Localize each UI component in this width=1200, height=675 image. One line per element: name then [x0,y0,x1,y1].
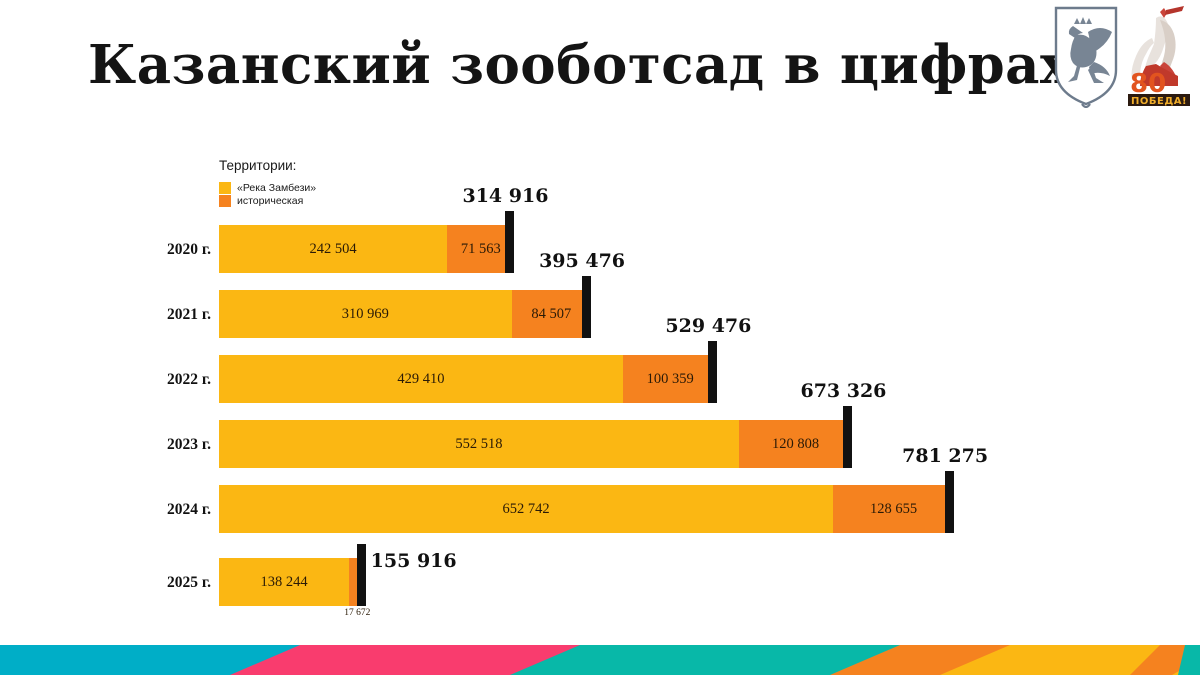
chart-row: 2023 г.552 518120 808673 326 [0,420,1200,468]
bar-segment-value: 71 563 [461,241,501,258]
bar-segment-value: 310 969 [342,306,389,323]
bar-segment-value: 17 672 [344,608,370,618]
legend-swatch-series-b [219,195,231,207]
chart-legend: Территории: «Река Замбези» историческая [219,158,449,208]
legend-label-series-b: историческая [237,195,303,207]
bar-segment-reka-zambezi[interactable]: 310 969 [219,290,512,338]
bar-segment-value: 100 359 [647,371,694,388]
total-value-label: 781 275 [902,445,988,467]
page-title: Казанский зооботсад в цифрах [88,34,1072,96]
chart-row: 2025 г.138 24417 672155 916 [0,558,1200,606]
row-category-label: 2025 г. [0,574,211,592]
stacked-bar[interactable]: 429 410100 359 [219,355,717,403]
bar-segment-value: 120 808 [772,436,819,453]
total-value-label: 529 476 [665,315,751,337]
logo-block: 80 ПОБЕДА! [1052,4,1192,108]
total-value-label: 155 916 [371,550,457,572]
total-value-label: 314 916 [462,185,548,207]
bar-segment-value: 128 655 [870,501,917,518]
row-category-label: 2022 г. [0,371,211,389]
bar-segment-istoricheskaya[interactable]: 71 563 [447,225,514,273]
bar-segment-reka-zambezi[interactable]: 652 742 [219,485,833,533]
bar-segment-reka-zambezi[interactable]: 552 518 [219,420,739,468]
total-value-label: 673 326 [800,380,886,402]
chart-row: 2024 г.652 742128 655781 275 [0,485,1200,533]
row-category-label: 2024 г. [0,501,211,519]
row-category-label: 2020 г. [0,241,211,259]
kazan-coat-of-arms-icon [1052,4,1120,108]
total-value-label: 395 476 [539,250,625,272]
total-marker [843,406,852,468]
legend-title: Территории: [219,158,449,173]
bar-segment-istoricheskaya[interactable]: 128 655 [833,485,954,533]
legend-item-istoricheskaya: историческая [219,195,449,207]
row-category-label: 2023 г. [0,436,211,454]
stacked-bar[interactable]: 552 518120 808 [219,420,852,468]
stacked-bar[interactable]: 310 96984 507 [219,290,591,338]
legend-swatch-series-a [219,182,231,194]
bar-segment-value: 652 742 [502,501,549,518]
stacked-bar[interactable]: 652 742128 655 [219,485,954,533]
footer-ribbon [0,641,1200,675]
victory-80-emblem-icon: 80 ПОБЕДА! [1126,4,1192,108]
footer-ribbon-graphic [0,641,1200,675]
total-marker [945,471,954,533]
bar-segment-istoricheskaya[interactable]: 120 808 [739,420,853,468]
total-marker [357,544,366,606]
legend-label-series-a: «Река Замбези» [237,182,316,194]
bar-segment-value: 84 507 [531,306,571,323]
total-marker [708,341,717,403]
bar-segment-value: 242 504 [310,241,357,258]
stacked-bar[interactable]: 242 50471 563 [219,225,514,273]
bar-segment-reka-zambezi[interactable]: 242 504 [219,225,447,273]
legend-item-reka-zambezi: «Река Замбези» [219,182,449,194]
chart-row: 2021 г.310 96984 507395 476 [0,290,1200,338]
bar-segment-reka-zambezi[interactable]: 429 410 [219,355,623,403]
bar-segment-istoricheskaya[interactable]: 84 507 [512,290,592,338]
total-marker [582,276,591,338]
bar-segment-value: 552 518 [455,436,502,453]
bar-segment-istoricheskaya[interactable]: 100 359 [623,355,717,403]
bar-segment-value: 138 244 [260,574,307,591]
bar-segment-value: 429 410 [397,371,444,388]
total-marker [505,211,514,273]
stacked-bar[interactable]: 138 24417 672 [219,558,366,606]
victory-pobeda-text: ПОБЕДА! [1131,96,1187,107]
chart-row: 2022 г.429 410100 359529 476 [0,355,1200,403]
bar-segment-reka-zambezi[interactable]: 138 244 [219,558,349,606]
stacked-bar-chart: Территории: «Река Замбези» историческая … [0,130,1200,620]
row-category-label: 2021 г. [0,306,211,324]
